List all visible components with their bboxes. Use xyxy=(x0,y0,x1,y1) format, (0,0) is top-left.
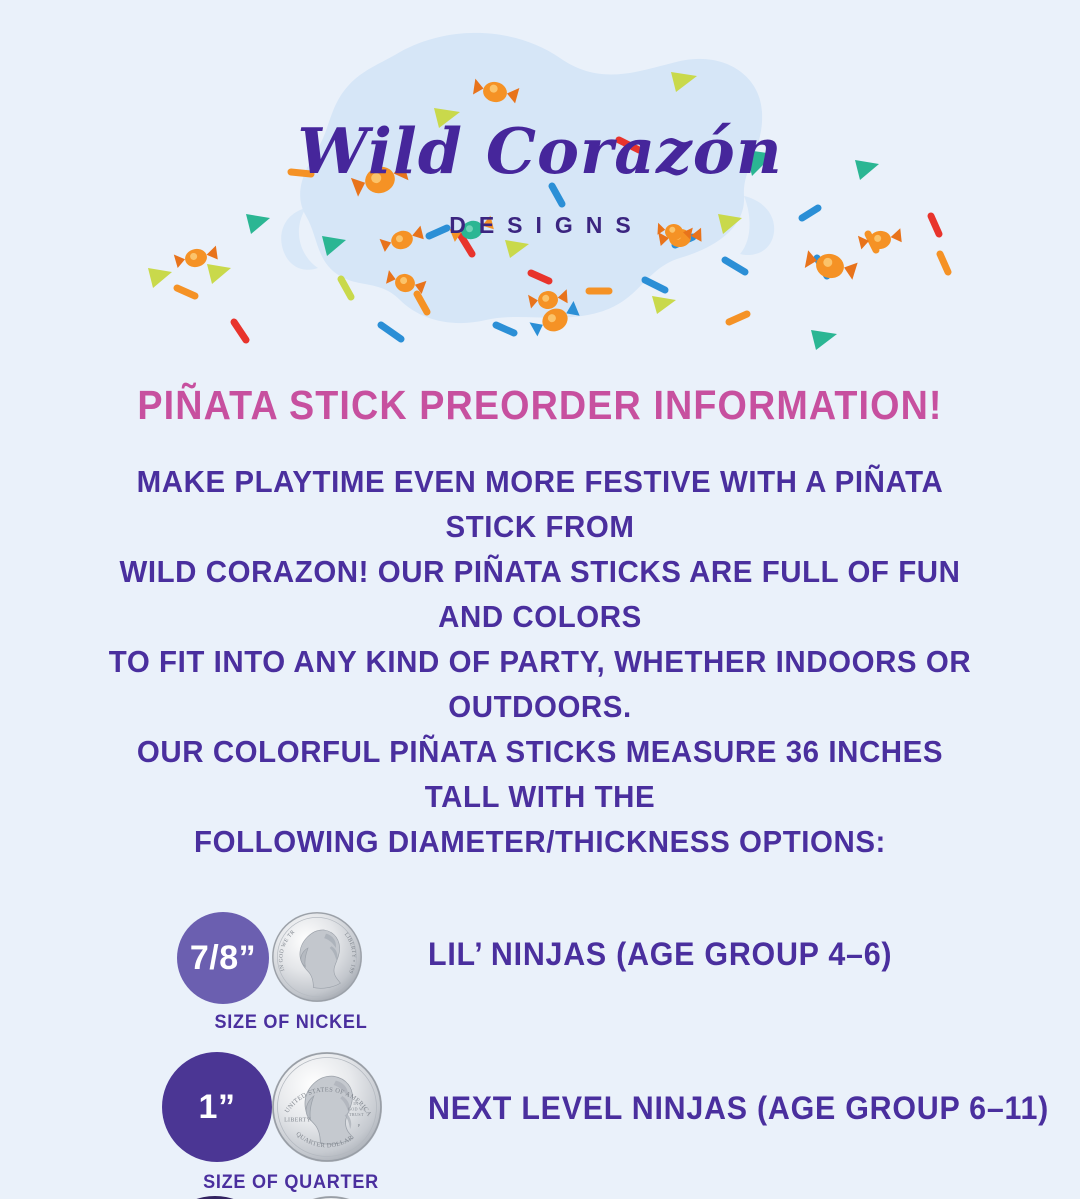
size-diameter-value: 7/8” xyxy=(190,939,256,978)
brand-subtitle: DESIGNS xyxy=(0,212,1080,239)
size-option-row: IN GOD WE TRUST LIBERTY • 1998 7/8” SIZE… xyxy=(0,898,1080,1046)
size-option-row: UNITED STATES OF AMERICA QUARTER DOLLAR … xyxy=(0,1046,1080,1194)
size-option-row: UNITED STATES OF AMERICA QUARTER DOLLAR … xyxy=(0,1194,1080,1199)
quarter-mintmark: P xyxy=(358,1123,361,1128)
intro-line: MAKE PLAYTIME EVEN MORE FESTIVE WITH A P… xyxy=(98,459,982,549)
size-circle-badge: 7/8” xyxy=(177,912,269,1004)
flyer-page: Wild Corazón DESIGNS PIÑATA STICK PREORD… xyxy=(0,0,1080,1199)
size-caption: SIZE OF NICKEL xyxy=(167,1012,416,1034)
size-caption: SIZE OF QUARTER xyxy=(167,1172,416,1194)
brand-wordmark: Wild Corazón xyxy=(0,120,1080,183)
quarter-liberty-legend: LIBERTY xyxy=(284,1117,311,1123)
intro-line: TO FIT INTO ANY KIND OF PARTY, WHETHER I… xyxy=(98,639,982,729)
size-options-list: IN GOD WE TRUST LIBERTY • 1998 7/8” SIZE… xyxy=(0,898,1080,1199)
intro-paragraph: MAKE PLAYTIME EVEN MORE FESTIVE WITH A P… xyxy=(75,459,1005,864)
size-badge-group: IN GOD WE TRUST LIBERTY • 1998 7/8” SIZE… xyxy=(160,898,422,1046)
intro-line: FOLLOWING DIAMETER/THICKNESS OPTIONS: xyxy=(98,819,982,864)
size-badge-group: UNITED STATES OF AMERICA QUARTER DOLLAR … xyxy=(160,1194,422,1199)
logo-header: Wild Corazón DESIGNS xyxy=(0,0,1080,360)
size-circle-badge: 1” xyxy=(162,1052,272,1162)
nickel-coin: IN GOD WE TRUST LIBERTY • 1998 xyxy=(272,912,362,1002)
intro-line: OUR COLORFUL PIÑATA STICKS MEASURE 36 IN… xyxy=(98,729,982,819)
size-group-label: LIL’ NINJAS (AGE GROUP 4–6) xyxy=(428,936,892,973)
intro-line: WILD CORAZON! OUR PIÑATA STICKS ARE FULL… xyxy=(98,549,982,639)
size-badge-group: UNITED STATES OF AMERICA QUARTER DOLLAR … xyxy=(160,1046,422,1194)
size-group-label: NEXT LEVEL NINJAS (AGE GROUP 6–11) xyxy=(428,1090,1049,1127)
quarter-motto-line2: GOD WE xyxy=(348,1106,367,1111)
size-diameter-value: 1” xyxy=(199,1088,236,1127)
quarter-coin: UNITED STATES OF AMERICA QUARTER DOLLAR … xyxy=(272,1052,382,1162)
page-title: PIÑATA STICK PREORDER INFORMATION! xyxy=(43,382,1037,429)
quarter-motto-line1: IN xyxy=(353,1101,358,1106)
quarter-motto-line3: TRUST xyxy=(349,1112,364,1117)
